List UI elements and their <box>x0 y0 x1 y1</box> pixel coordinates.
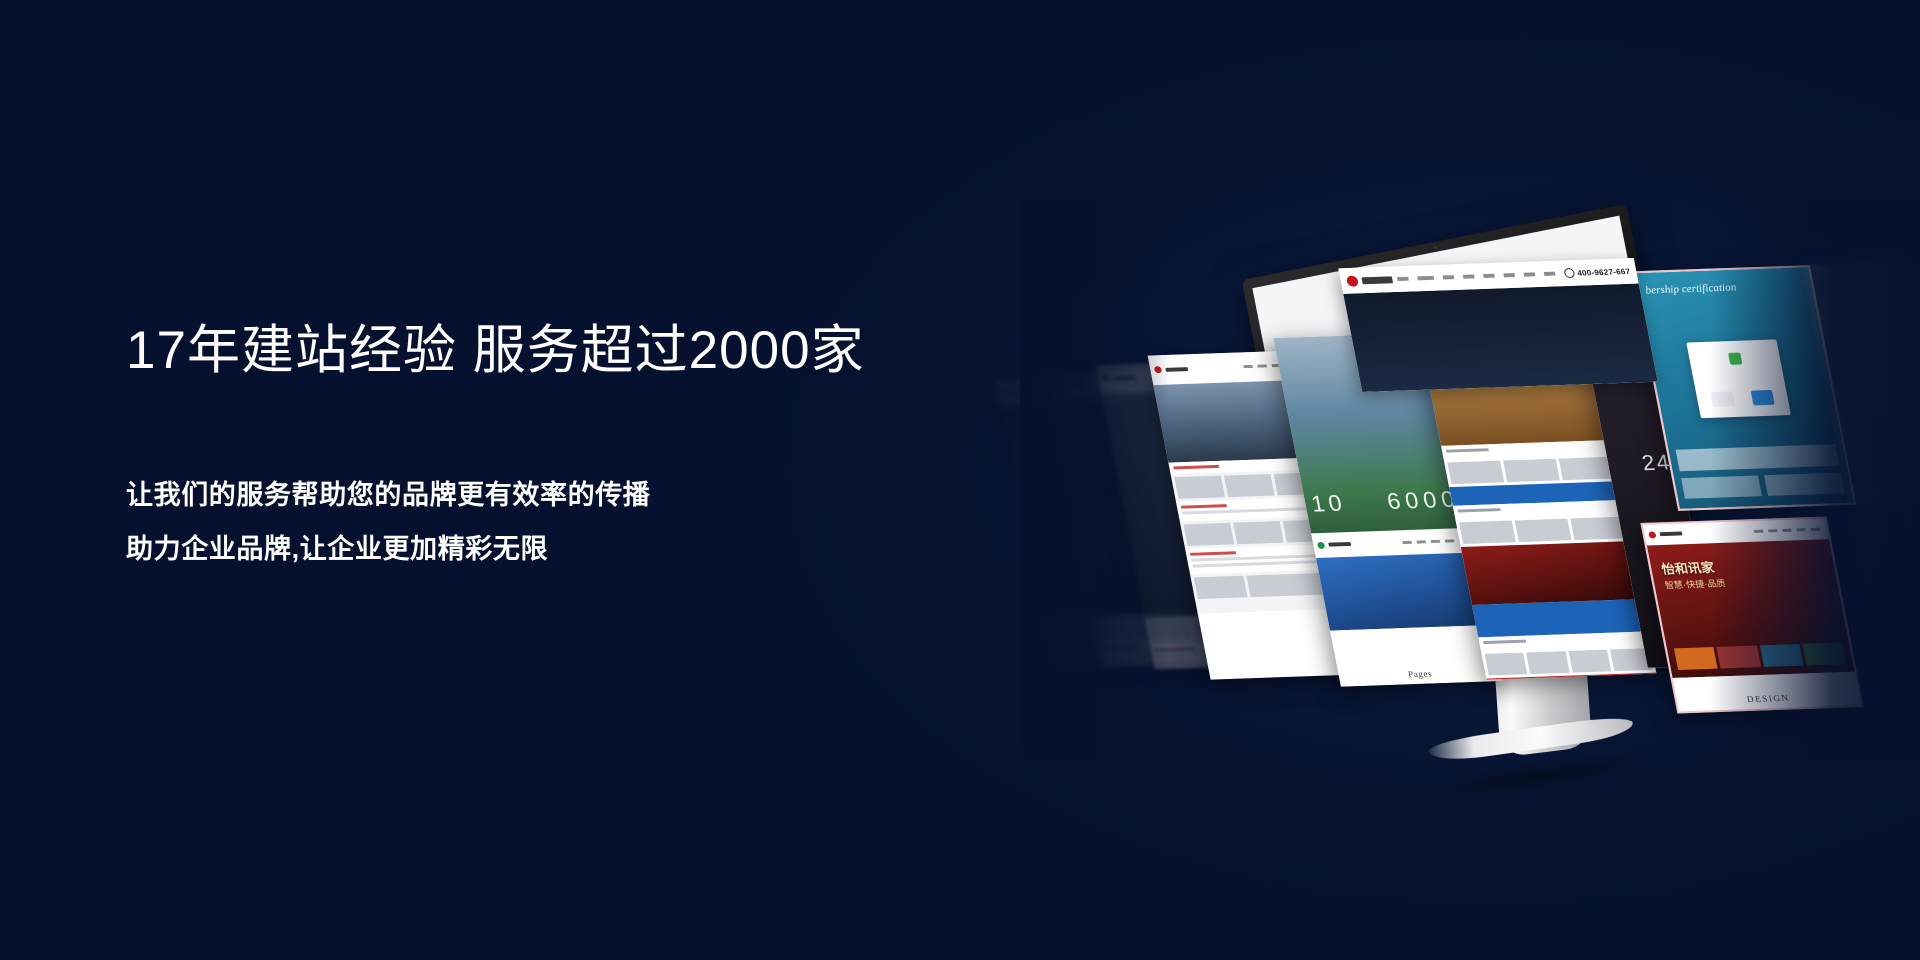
site-logo-icon <box>1346 275 1359 286</box>
panel-subtitle-cn: 智慧·快捷·品质 <box>1663 576 1726 591</box>
list-item: 怡和讯家 智慧·快捷·品质 DESIGN <box>1640 517 1863 714</box>
success-icon <box>1728 353 1742 365</box>
nav-item-home[interactable] <box>1397 277 1409 281</box>
hero-subcopy: 让我们的服务帮助您的品牌更有效率的传播 助力企业品牌,让企业更加精彩无限 <box>126 482 1106 563</box>
nav-item-solution[interactable] <box>1483 274 1495 278</box>
nav-item-case[interactable] <box>1463 274 1475 278</box>
nav-item-contact[interactable] <box>1543 272 1555 276</box>
hero-subline-1: 让我们的服务帮助您的品牌更有效率的传播 <box>126 482 1106 509</box>
hero-subline-2: 助力企业品牌,让企业更加精彩无限 <box>126 536 1106 563</box>
dialog-cancel-button[interactable] <box>1710 391 1735 407</box>
hero-copy: 17年建站经验 服务超过2000家 让我们的服务帮助您的品牌更有效率的传播 助力… <box>126 320 1106 563</box>
page-title: 17年建站经验 服务超过2000家 <box>126 320 1106 383</box>
dialog <box>1686 339 1791 418</box>
nav-item-about[interactable] <box>1417 276 1434 280</box>
panel-title-cn: 怡和讯家 <box>1660 557 1716 577</box>
site-hero-banner <box>1343 284 1658 392</box>
featured-website: 400-9627-667 <box>1338 258 1658 392</box>
dialog-confirm-button[interactable] <box>1750 390 1775 406</box>
nav-item-company[interactable] <box>1523 272 1535 276</box>
nav-item-news[interactable] <box>1503 273 1515 277</box>
phone-icon <box>1563 268 1575 278</box>
site-logo-text <box>1361 276 1393 284</box>
panel-title: bership certification <box>1644 282 1737 297</box>
site-phone-number: 400-9627-667 <box>1576 267 1631 278</box>
panel-footer-word: DESIGN <box>1746 693 1790 704</box>
panel-metric-1: 10 <box>1309 490 1348 518</box>
nav-item-service[interactable] <box>1442 275 1454 279</box>
hero-banner: 17年建站经验 服务超过2000家 让我们的服务帮助您的品牌更有效率的传播 助力… <box>0 0 1920 960</box>
